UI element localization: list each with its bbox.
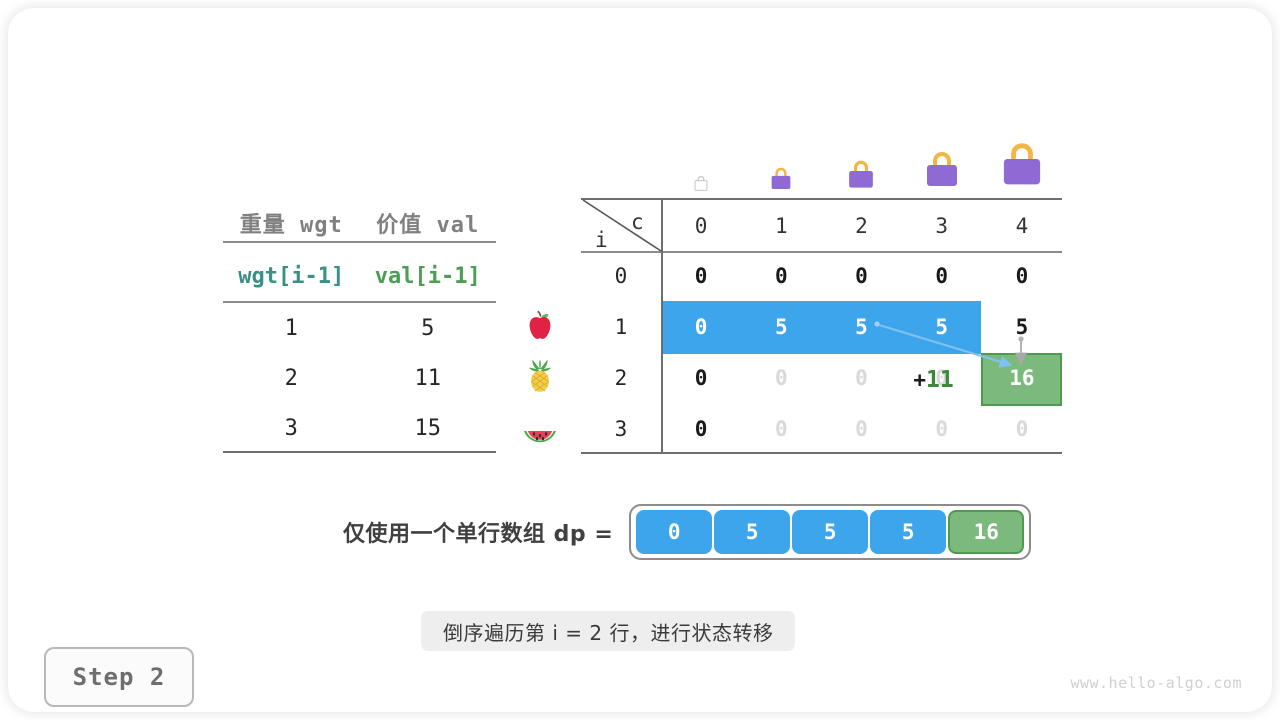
item-3-wgt: 3 <box>223 403 360 453</box>
dp-col-header-1: 1 <box>741 201 821 251</box>
item-row-2: 2 11 <box>223 353 496 403</box>
apple-icon-svg <box>522 308 558 344</box>
handbag-icon-1-svg <box>766 164 796 194</box>
handbag-icon-4-svg <box>993 136 1051 194</box>
dp-column-header-row: 0 1 2 3 4 <box>581 201 1062 251</box>
dp-row-0: 0 0 0 0 0 0 <box>581 251 1062 301</box>
handbag-icon-1 <box>741 164 821 194</box>
handbag-icon-3 <box>902 146 982 194</box>
handbag-icon-4 <box>982 136 1062 194</box>
step-caption: 倒序遍历第 i = 2 行，进行状态转移 <box>421 611 795 651</box>
item-fruit-column <box>513 301 567 451</box>
item-3-val: 15 <box>360 403 497 453</box>
dp-cell-1-3: 5 <box>902 302 982 352</box>
dp-cell-1-1: 5 <box>741 302 821 352</box>
dp-col-header-2: 2 <box>821 201 901 251</box>
item-2-val: 11 <box>360 353 497 403</box>
item-table-subheader-row: wgt[i-1] val[i-1] <box>223 251 496 301</box>
handbag-icon-2 <box>821 156 901 194</box>
dp-col-header-0: 0 <box>661 201 741 251</box>
dp-row-label-0: 0 <box>581 251 661 301</box>
dp-cell-0-4: 0 <box>982 251 1062 301</box>
dp-col-header-3: 3 <box>902 201 982 251</box>
dp-cell-1-0: 0 <box>661 302 741 352</box>
pineapple-icon-svg <box>522 358 558 394</box>
dp-table: c i 0 1 2 3 4 0 0 0 0 0 0 1 0 5 5 5 5 <box>581 198 1062 454</box>
value-gain-annotation: +11 <box>886 353 981 406</box>
dp-array-label: 仅使用一个单行数组 dp = <box>343 516 613 548</box>
dp-array-container: 0 5 5 5 16 <box>629 504 1031 560</box>
dp-row-label-2: 2 <box>581 353 661 403</box>
dp-col-header-4: 4 <box>982 201 1062 251</box>
dp-cell-2-4: 16 <box>982 353 1062 403</box>
knapsack-capacity-icons <box>661 134 1062 194</box>
site-watermark: www.hello-algo.com <box>1070 674 1242 692</box>
dp-cell-3-4: 0 <box>982 404 1062 454</box>
dp-row-label-3: 3 <box>581 404 661 454</box>
val-index-label: val[i-1] <box>360 251 497 301</box>
dp-array-cell-4[interactable]: 16 <box>948 510 1024 554</box>
dp-row-3: 3 0 0 0 0 0 <box>581 404 1062 454</box>
dp-cell-3-0: 0 <box>661 404 741 454</box>
wgt-header: 重量 wgt <box>223 198 360 248</box>
item-row-1: 1 5 <box>223 303 496 353</box>
item-1-val: 5 <box>360 303 497 353</box>
item-weight-value-table: 重量 wgt 价值 val wgt[i-1] val[i-1] 1 5 2 11… <box>223 198 496 453</box>
slide-card: 重量 wgt 价值 val wgt[i-1] val[i-1] 1 5 2 11… <box>8 8 1272 712</box>
handbag-icon-2-svg <box>842 156 880 194</box>
dp-array-cell-1[interactable]: 5 <box>714 510 790 554</box>
dp-cell-3-2: 0 <box>821 404 901 454</box>
dp-cell-2-1: 0 <box>741 353 821 403</box>
handbag-icon-3-svg <box>918 146 966 194</box>
apple-icon <box>513 301 567 351</box>
item-2-wgt: 2 <box>223 353 360 403</box>
dp-cell-0-3: 0 <box>902 251 982 301</box>
pineapple-icon <box>513 351 567 401</box>
dp-row-2: 2 0 0 0 0 16 <box>581 353 1062 403</box>
watermelon-icon <box>513 401 567 451</box>
handbag-icon-0-svg <box>690 172 712 194</box>
dp-cell-3-3: 0 <box>902 404 982 454</box>
dp-cell-1-4: 5 <box>982 302 1062 352</box>
dp-array-cell-0[interactable]: 0 <box>636 510 712 554</box>
item-row-3: 3 15 <box>223 403 496 453</box>
gain-amount: 11 <box>926 367 954 393</box>
dp-array-cell-3[interactable]: 5 <box>870 510 946 554</box>
watermelon-icon-svg <box>521 407 559 445</box>
dp-cell-3-1: 0 <box>741 404 821 454</box>
item-table-header-row: 重量 wgt 价值 val <box>223 198 496 248</box>
dp-cell-2-0: 0 <box>661 353 741 403</box>
dp-row-1: 1 0 5 5 5 5 <box>581 302 1062 352</box>
dp-array-cell-2[interactable]: 5 <box>792 510 868 554</box>
handbag-icon-0 <box>661 172 741 194</box>
dp-cell-0-2: 0 <box>821 251 901 301</box>
dp-cell-0-1: 0 <box>741 251 821 301</box>
gain-sign: + <box>913 368 926 392</box>
dp-cell-0-0: 0 <box>661 251 741 301</box>
step-badge: Step 2 <box>44 647 194 707</box>
dp-row-label-1: 1 <box>581 302 661 352</box>
dp-cell-1-2: 5 <box>821 302 901 352</box>
item-1-wgt: 1 <box>223 303 360 353</box>
dp-single-row-array: 仅使用一个单行数组 dp = 0 5 5 5 16 <box>343 503 1031 561</box>
val-header: 价值 val <box>360 198 497 248</box>
wgt-index-label: wgt[i-1] <box>223 251 360 301</box>
